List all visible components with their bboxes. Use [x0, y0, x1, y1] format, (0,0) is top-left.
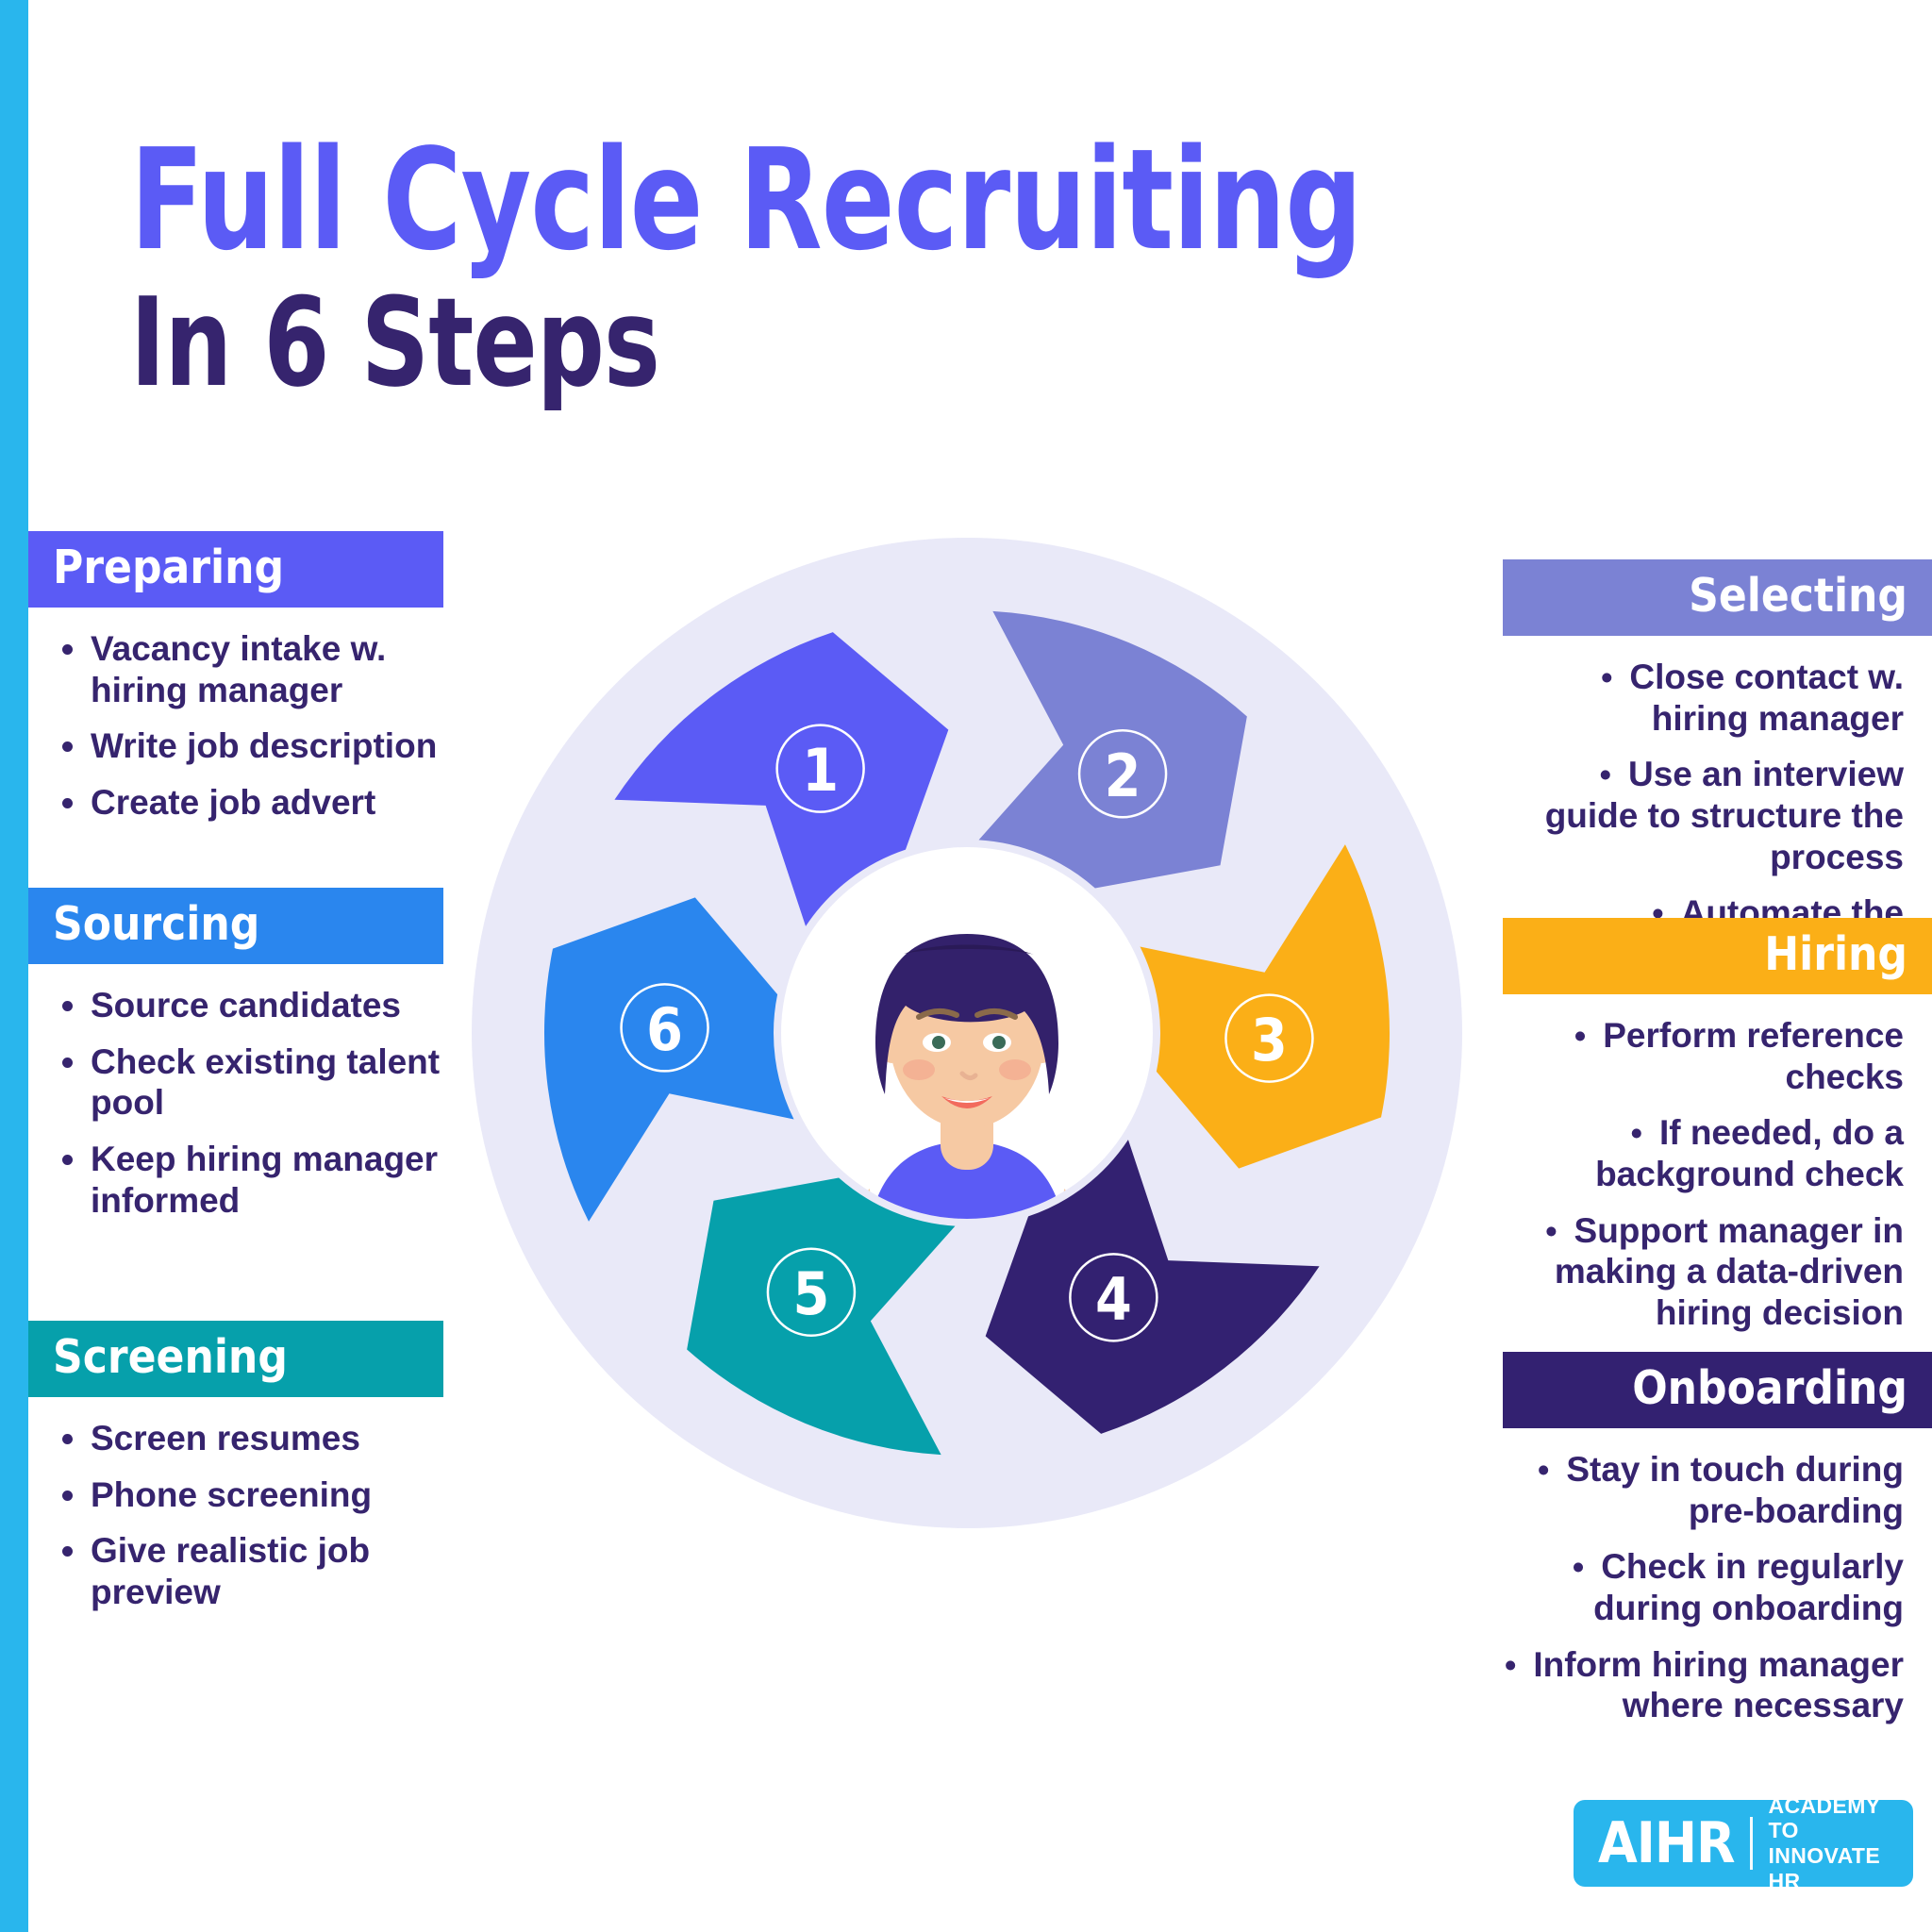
list-onboarding: Stay in touch during pre-boarding Check …: [1503, 1449, 1932, 1726]
list-item-text: Close contact w. hiring manager: [1601, 658, 1904, 738]
list-item-text: Inform hiring manager where necessary: [1505, 1645, 1904, 1725]
list-item-text: Stay in touch during pre-boarding: [1538, 1450, 1904, 1530]
iris-left: [932, 1036, 945, 1049]
list-preparing: Vacancy intake w. hiring manager Write j…: [28, 628, 443, 824]
bullet-dot: [62, 1058, 73, 1068]
panel-header-screening: Screening: [28, 1321, 443, 1397]
panel-preparing: Preparing Vacancy intake w. hiring manag…: [28, 531, 443, 824]
bullet-dot: [62, 741, 73, 752]
list-item: Check existing talent pool: [49, 1041, 443, 1124]
list-item-text: Vacancy intake w. hiring manager: [91, 629, 386, 709]
list-hiring: Perform reference checks If needed, do a…: [1503, 1015, 1932, 1334]
bullet-dot: [62, 1491, 73, 1501]
list-item: Support manager in making a data-driven …: [1503, 1210, 1904, 1334]
list-item-text: Check in regularly during onboarding: [1573, 1547, 1904, 1627]
logo-tagline: ACADEMY TO INNOVATE HR: [1768, 1793, 1913, 1894]
list-item-text: Create job advert: [91, 783, 375, 822]
list-item: Stay in touch during pre-boarding: [1503, 1449, 1904, 1531]
list-item: Keep hiring manager informed: [49, 1139, 443, 1221]
list-item-text: Keep hiring manager informed: [91, 1140, 438, 1220]
list-item: Screen resumes: [49, 1418, 443, 1459]
logo-wordmark: AIHR: [1574, 1810, 1735, 1876]
step-number-1: 1: [802, 736, 839, 805]
page-title: Full Cycle Recruiting In 6 Steps: [130, 132, 1357, 406]
panel-onboarding: Onboarding Stay in touch during pre-boar…: [1503, 1352, 1932, 1726]
list-item-text: Check existing talent pool: [91, 1042, 440, 1123]
list-item-text: Support manager in making a data-driven …: [1545, 1211, 1904, 1332]
aihr-logo[interactable]: AIHR ACADEMY TO INNOVATE HR: [1574, 1800, 1913, 1887]
list-item-text: Phone screening: [91, 1475, 372, 1514]
bullet-dot: [62, 1546, 73, 1557]
bullet-dot: [62, 1434, 73, 1444]
list-sourcing: Source candidates Check existing talent …: [28, 985, 443, 1221]
list-item: Give realistic job preview: [49, 1530, 443, 1612]
left-accent-rail: [0, 0, 28, 1932]
cheek-right: [999, 1059, 1031, 1080]
list-screening: Screen resumes Phone screening Give real…: [28, 1418, 443, 1613]
logo-tagline-line2: INNOVATE HR: [1768, 1843, 1880, 1893]
list-item: Close contact w. hiring manager: [1503, 657, 1904, 739]
list-item: Vacancy intake w. hiring manager: [49, 628, 443, 710]
list-item-text: If needed, do a background check: [1595, 1113, 1904, 1193]
list-item: Inform hiring manager where necessary: [1503, 1644, 1904, 1726]
list-item: Write job description: [49, 725, 443, 767]
panel-hiring: Hiring Perform reference checks If neede…: [1503, 918, 1932, 1334]
list-item-text: Give realistic job preview: [91, 1531, 370, 1611]
step-number-3: 3: [1251, 1006, 1288, 1074]
bullet-dot: [62, 798, 73, 808]
panel-header-onboarding: Onboarding: [1503, 1352, 1932, 1428]
step-number-5: 5: [793, 1259, 830, 1328]
iris-right: [992, 1036, 1006, 1049]
panel-screening: Screening Screen resumes Phone screening…: [28, 1321, 443, 1613]
cheek-left: [903, 1059, 935, 1080]
cycle-wheel-diagram: 123456: [462, 528, 1472, 1538]
logo-tagline-line1: ACADEMY TO: [1768, 1793, 1880, 1843]
list-item: Phone screening: [49, 1474, 443, 1516]
panel-header-sourcing: Sourcing: [28, 888, 443, 964]
list-item: Check in regularly during onboarding: [1503, 1546, 1904, 1628]
title-line-2: In 6 Steps: [130, 280, 1185, 406]
list-item-text: Use an interview guide to structure the …: [1545, 755, 1904, 875]
panel-header-hiring: Hiring: [1503, 918, 1932, 994]
list-item: Create job advert: [49, 782, 443, 824]
list-item-text: Source candidates: [91, 986, 401, 1024]
list-item: Perform reference checks: [1503, 1015, 1904, 1097]
bullet-dot: [62, 644, 73, 655]
list-item: Source candidates: [49, 985, 443, 1026]
list-item: Use an interview guide to structure the …: [1503, 754, 1904, 877]
list-item-text: Screen resumes: [91, 1419, 360, 1457]
title-line-1: Full Cycle Recruiting: [130, 132, 1185, 269]
bullet-dot: [62, 1001, 73, 1011]
step-number-4: 4: [1095, 1265, 1132, 1334]
infographic-canvas: Full Cycle Recruiting In 6 Steps Prepari…: [0, 0, 1932, 1932]
logo-divider: [1750, 1817, 1754, 1870]
list-item: If needed, do a background check: [1503, 1112, 1904, 1194]
panel-header-selecting: Selecting: [1503, 559, 1932, 636]
bullet-dot: [62, 1155, 73, 1165]
panel-selecting: Selecting Close contact w. hiring manage…: [1503, 559, 1932, 975]
list-item-text: Write job description: [91, 726, 437, 765]
step-number-2: 2: [1105, 741, 1141, 810]
panel-sourcing: Sourcing Source candidates Check existin…: [28, 888, 443, 1221]
list-item-text: Perform reference checks: [1574, 1016, 1904, 1096]
panel-header-preparing: Preparing: [28, 531, 443, 608]
step-number-6: 6: [646, 995, 683, 1064]
